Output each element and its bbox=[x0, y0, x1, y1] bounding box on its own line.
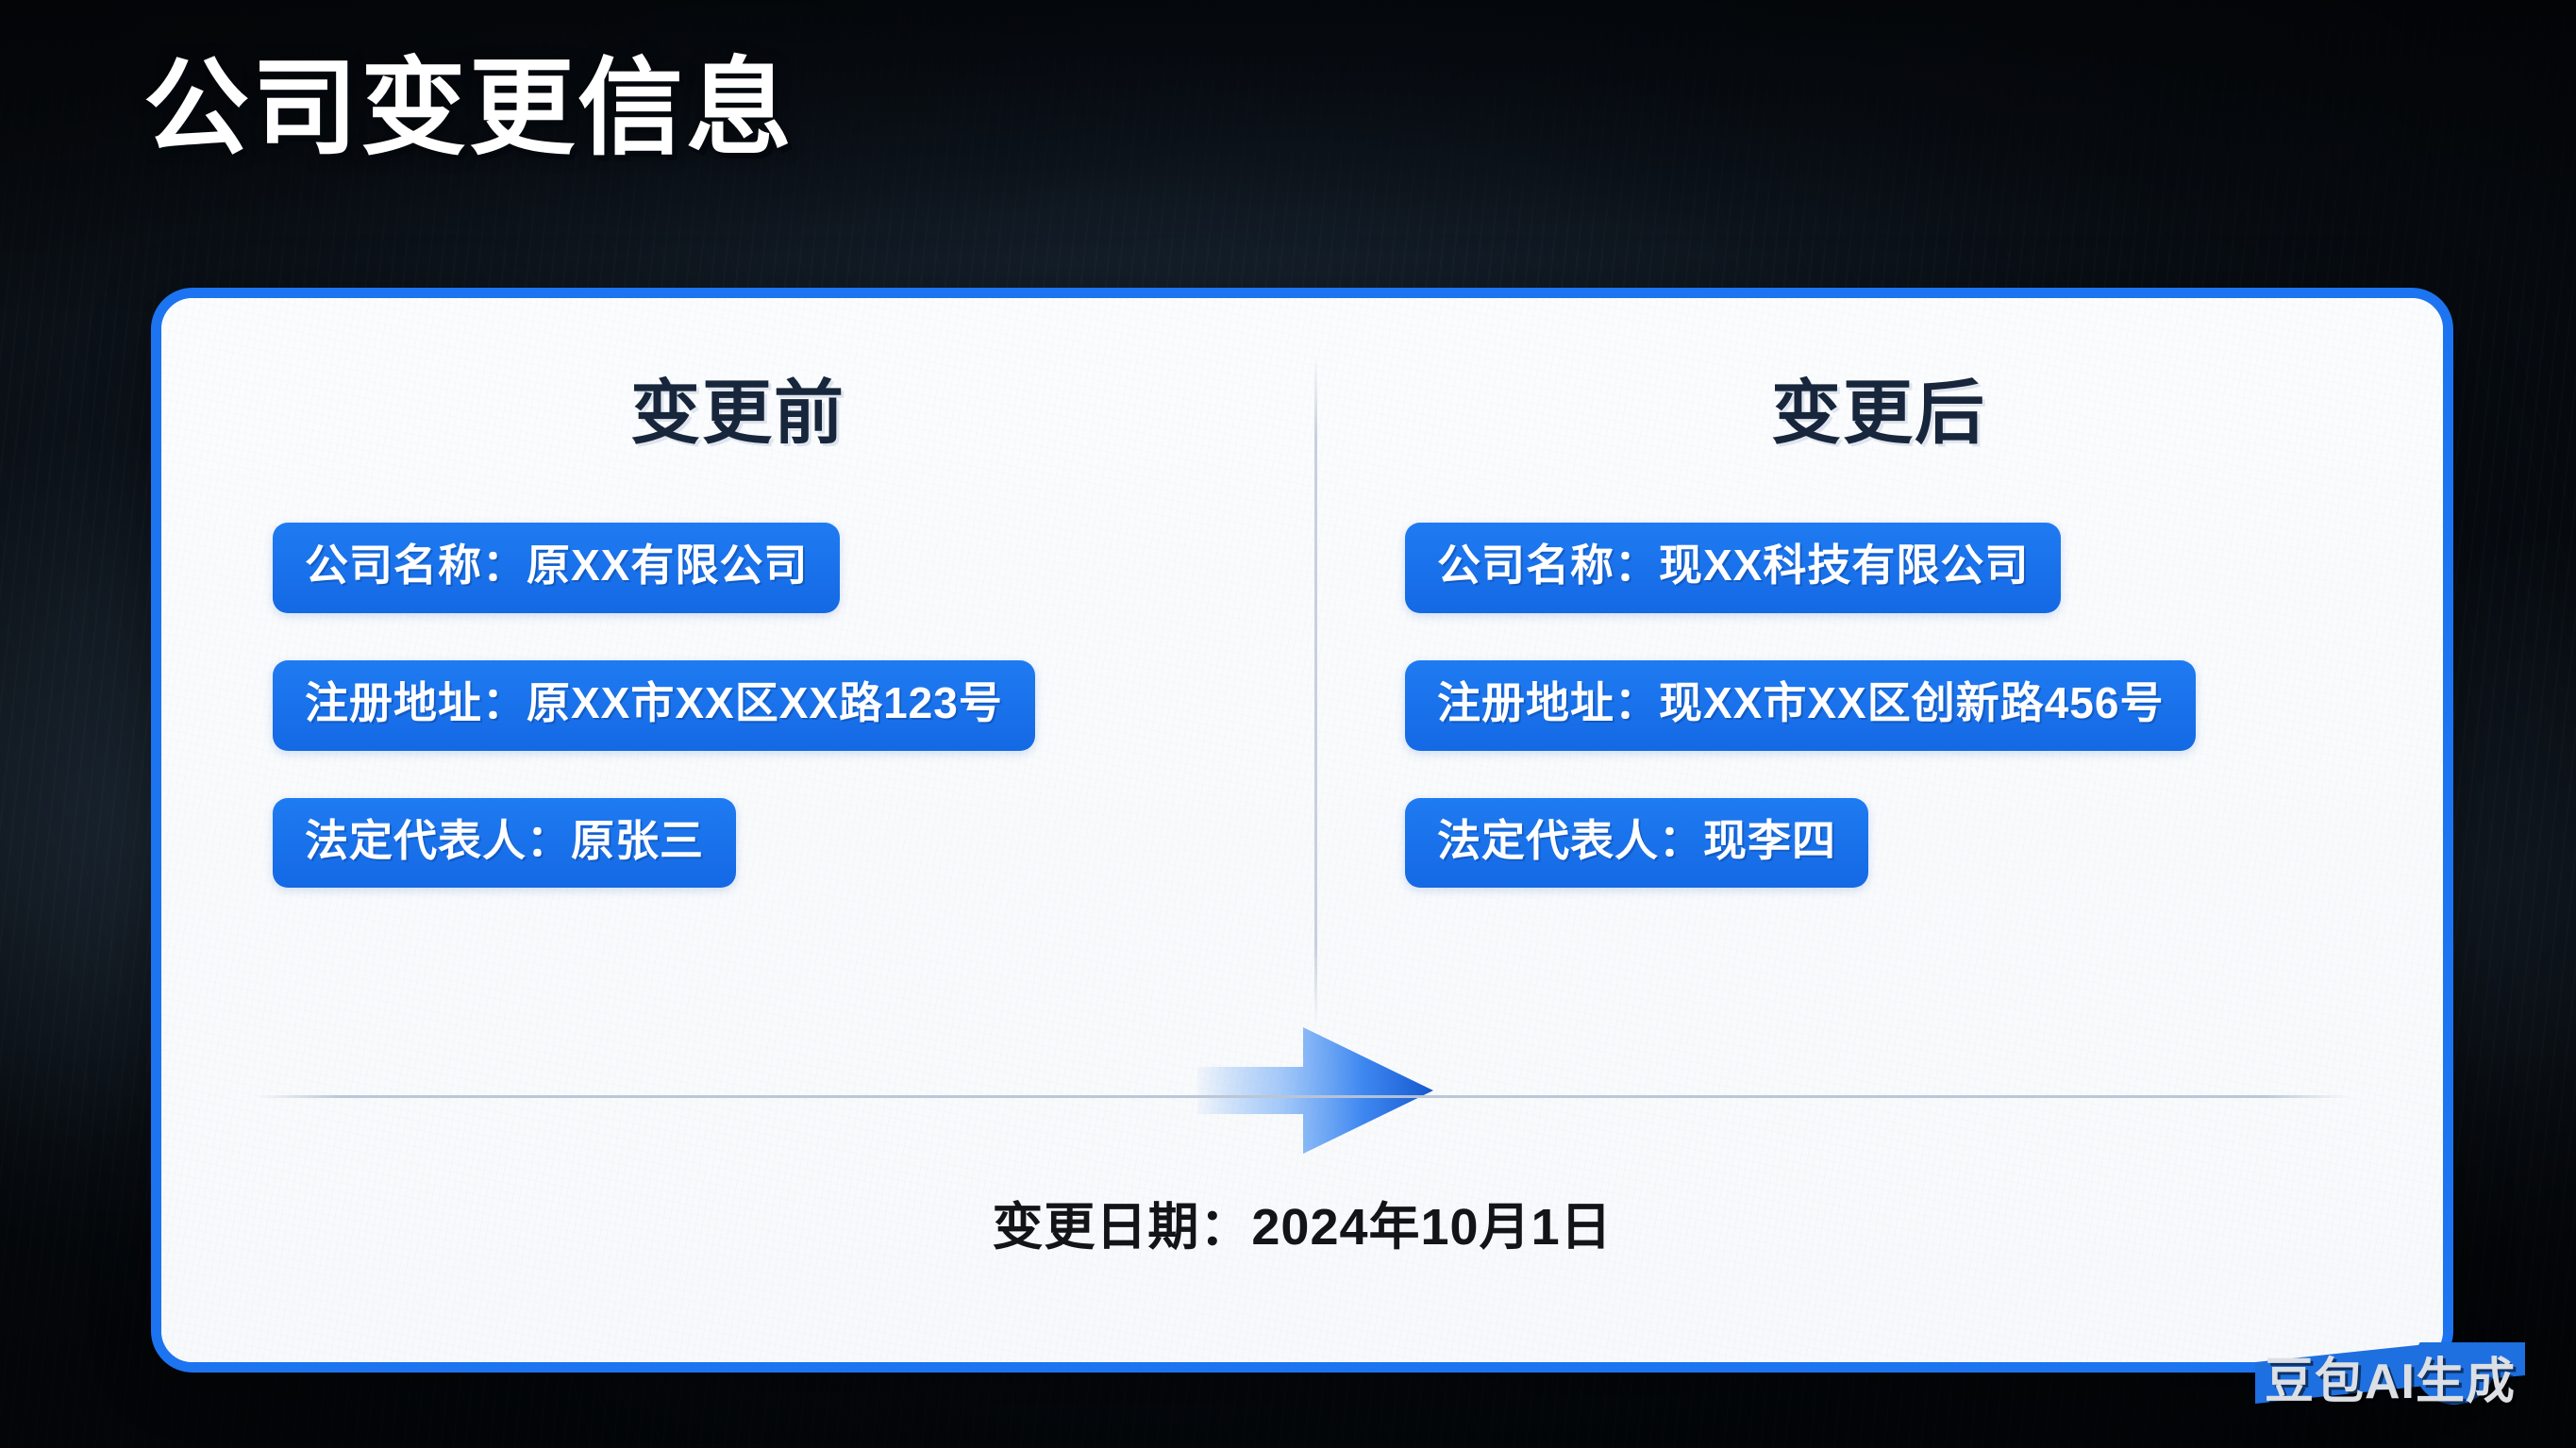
column-header-before: 变更前 bbox=[161, 357, 1314, 458]
footer-divider bbox=[256, 1095, 2349, 1098]
page-title: 公司变更信息 bbox=[143, 49, 795, 167]
before-chip-list: 公司名称：原XX有限公司 注册地址：原XX市XX区XX路123号 法定代表人：原… bbox=[273, 523, 1035, 888]
after-chip-list: 公司名称：现XX科技有限公司 注册地址：现XX市XX区创新路456号 法定代表人… bbox=[1405, 523, 2196, 888]
watermark: 豆包AI生成 bbox=[2255, 1342, 2525, 1410]
chip-registered-address-after: 注册地址：现XX市XX区创新路456号 bbox=[1405, 660, 2196, 751]
chip-legal-representative-before: 法定代表人：原张三 bbox=[273, 798, 736, 889]
chip-company-name-before: 公司名称：原XX有限公司 bbox=[273, 523, 840, 613]
footer-date: 变更日期：2024年10月1日 bbox=[161, 1185, 2443, 1259]
comparison-card: 变更前 变更后 公司名称：原XX有限公司 注册地址：原XX市XX区XX路123号… bbox=[151, 288, 2453, 1373]
watermark-label: 豆包AI生成 bbox=[2265, 1342, 2516, 1410]
chip-company-name-after: 公司名称：现XX科技有限公司 bbox=[1405, 523, 2061, 613]
slide-canvas: 公司变更信息 变更前 变更后 公司名称：原XX有限公司 注册地址：原XX市XX区… bbox=[0, 0, 2576, 1448]
column-header-after: 变更后 bbox=[1314, 357, 2443, 458]
chip-registered-address-before: 注册地址：原XX市XX区XX路123号 bbox=[273, 660, 1035, 751]
arrow-right-icon bbox=[1197, 1020, 1433, 1161]
chip-legal-representative-after: 法定代表人：现李四 bbox=[1405, 798, 1868, 889]
